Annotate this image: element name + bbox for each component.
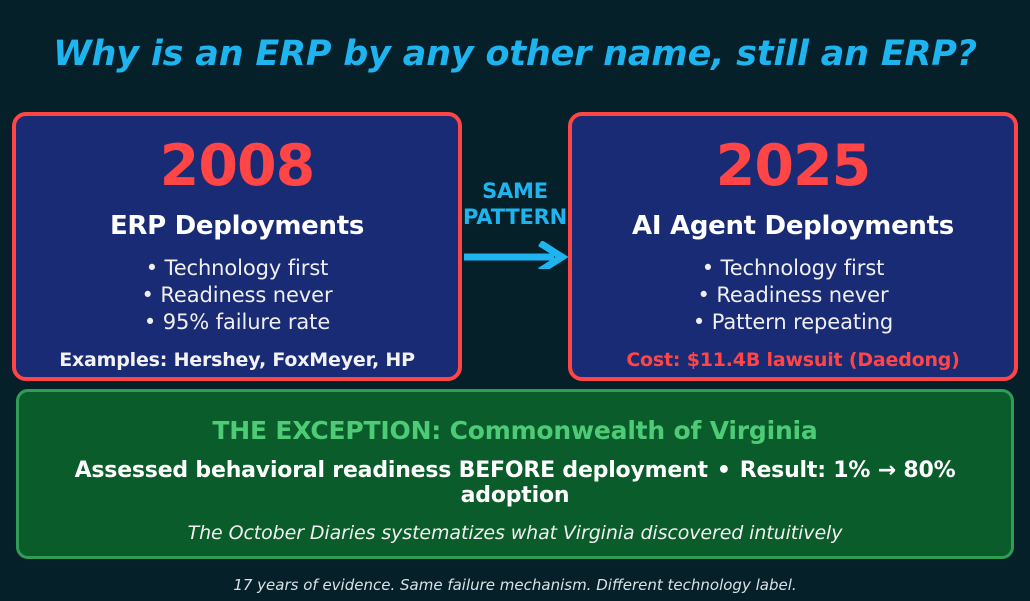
exception-stat-left: Assessed behavioral readiness BEFORE dep…: [75, 458, 708, 483]
card-footnote: Cost: $11.4B lawsuit (Daedong): [572, 349, 1014, 371]
card-bullet: • Readiness never: [572, 282, 1014, 309]
exception-title: THE EXCEPTION: Commonwealth of Virginia: [19, 416, 1011, 445]
arrow-right-icon: [462, 241, 568, 269]
connector-label-line1: SAME: [462, 178, 568, 204]
exception-note: The October Diaries systematizes what Vi…: [19, 522, 1011, 544]
exception-stat-line: Assessed behavioral readiness BEFORE dep…: [19, 458, 1011, 508]
card-bullet: • 95% failure rate: [16, 309, 458, 336]
card-bullet-list: • Technology first • Readiness never • 9…: [16, 255, 458, 336]
card-bullet: • Readiness never: [16, 282, 458, 309]
exception-title-rest: Commonwealth of Virginia: [441, 416, 818, 445]
card-subtitle: ERP Deployments: [16, 211, 458, 241]
card-footnote: Examples: Hershey, FoxMeyer, HP: [16, 349, 458, 371]
exception-stat-separator: •: [708, 458, 740, 483]
connector-same-pattern: SAME PATTERN: [462, 178, 568, 230]
card-bullet: • Pattern repeating: [572, 309, 1014, 336]
card-bullet: • Technology first: [572, 255, 1014, 282]
card-bullet-list: • Technology first • Readiness never • P…: [572, 255, 1014, 336]
card-2008: 2008 ERP Deployments • Technology first …: [12, 112, 462, 381]
card-year: 2025: [572, 138, 1014, 195]
footer-caption: 17 years of evidence. Same failure mecha…: [0, 576, 1030, 594]
card-subtitle: AI Agent Deployments: [572, 211, 1014, 241]
card-year: 2008: [16, 138, 458, 195]
exception-title-emphasis: THE EXCEPTION:: [212, 416, 441, 445]
page-title: Why is an ERP by any other name, still a…: [0, 34, 1030, 74]
connector-label-line2: PATTERN: [462, 204, 568, 230]
card-2025: 2025 AI Agent Deployments • Technology f…: [568, 112, 1018, 381]
card-bullet: • Technology first: [16, 255, 458, 282]
slide-canvas: Why is an ERP by any other name, still a…: [0, 0, 1030, 601]
exception-panel: THE EXCEPTION: Commonwealth of Virginia …: [16, 389, 1014, 559]
